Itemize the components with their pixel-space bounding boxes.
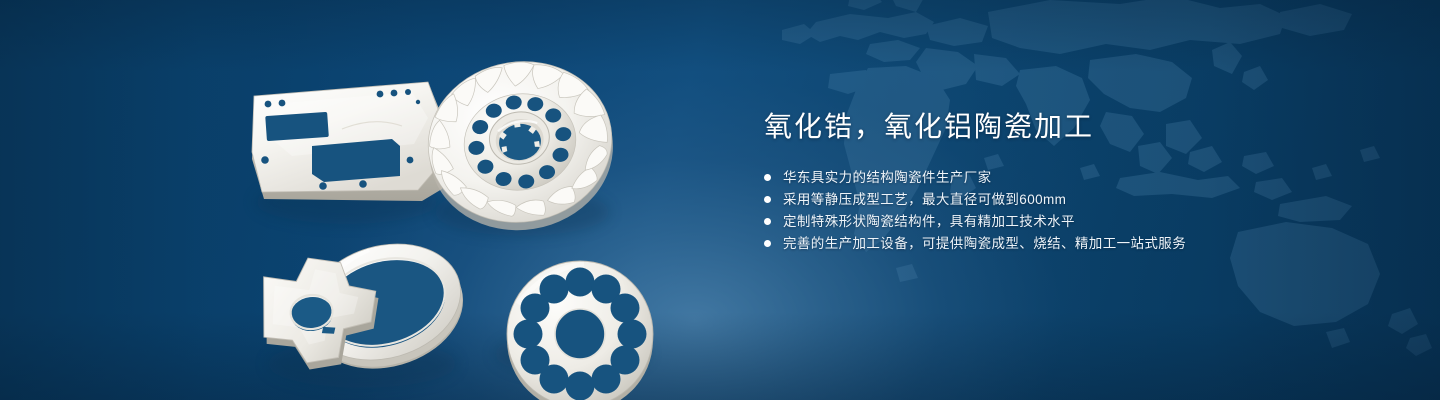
feature-text: 完善的生产加工设备，可提供陶瓷成型、烧结、精加工一站式服务 [783,236,1186,251]
list-item: 完善的生产加工设备，可提供陶瓷成型、烧结、精加工一站式服务 [764,236,1384,251]
list-item: 定制特殊形状陶瓷结构件，具有精加工技术水平 [764,214,1384,229]
filled-circle-icon [764,174,771,181]
filled-circle-icon [764,240,771,247]
page-title: 氧化锆，氧化铝陶瓷加工 [764,108,1384,146]
filled-circle-icon [764,218,771,225]
feature-text: 采用等静压成型工艺，最大直径可做到600mm [783,192,1066,207]
list-item: 华东具实力的结构陶瓷件生产厂家 [764,170,1384,185]
filled-circle-icon [764,196,771,203]
feature-text: 定制特殊形状陶瓷结构件，具有精加工技术水平 [783,214,1075,229]
banner-text-block: 氧化锆，氧化铝陶瓷加工 华东具实力的结构陶瓷件生产厂家 采用等静压成型工艺，最大… [764,108,1384,251]
list-item: 采用等静压成型工艺，最大直径可做到600mm [764,192,1384,207]
promo-banner: 氧化锆，氧化铝陶瓷加工 华东具实力的结构陶瓷件生产厂家 采用等静压成型工艺，最大… [0,0,1440,400]
feature-text: 华东具实力的结构陶瓷件生产厂家 [783,170,992,185]
feature-list: 华东具实力的结构陶瓷件生产厂家 采用等静压成型工艺，最大直径可做到600mm 定… [764,170,1384,251]
